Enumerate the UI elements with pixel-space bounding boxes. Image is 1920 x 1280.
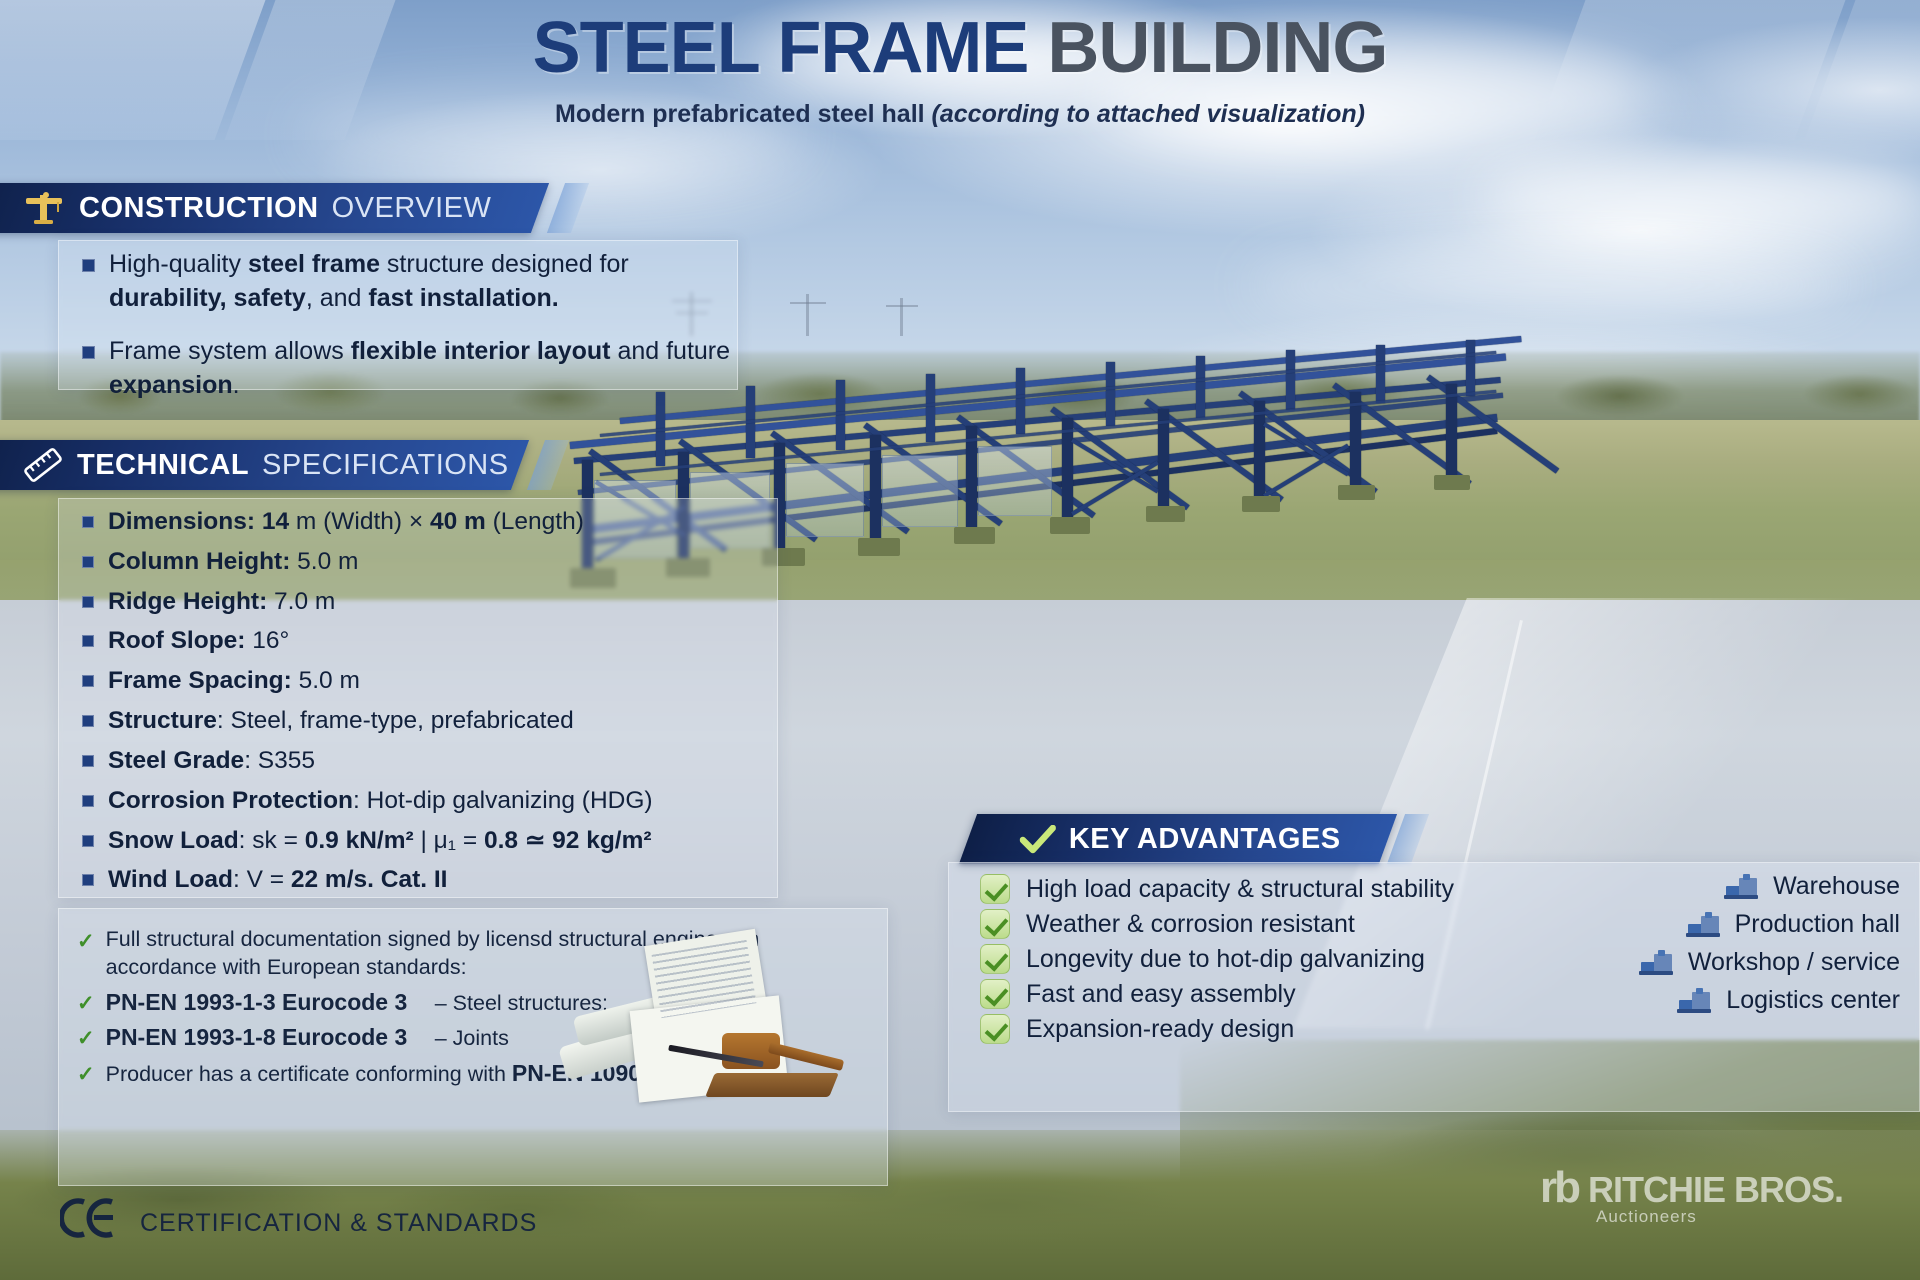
certification-text: PN-EN 1993-1-3 Eurocode 3 – Steel struct… [106,987,608,1017]
check-icon: ✓ [77,991,95,1016]
checkmark-icon [1020,824,1056,854]
spec-text: Corrosion Protection: Hot-dip galvanizin… [108,785,653,818]
subtitle-bold: Modern prefabricated steel hall [555,100,932,128]
construction-overview-heading-bold: CONSTRUCTION [79,192,319,225]
bullet-square-icon [82,259,95,272]
technical-specifications-heading-light: SPECIFICATIONS [262,449,509,482]
page-subtitle: Modern prefabricated steel hall (accordi… [0,100,1920,129]
power-pylon [790,302,826,304]
advantage-row: Longevity due to hot-dip galvanizing [980,944,1540,974]
construction-overview-banner: CONSTRUCTION OVERVIEW [0,183,549,233]
advantage-row: Weather & corrosion resistant [980,909,1540,939]
bullet-square-icon [82,516,94,528]
watermark-monogram: rb [1540,1168,1578,1208]
cloud [1480,150,1920,240]
spec-row: Corrosion Protection: Hot-dip galvanizin… [82,785,782,818]
key-advantages-list: High load capacity & structural stabilit… [980,874,1540,1049]
page-title-primary: STEEL FRAME [533,8,1048,88]
check-icon: ✓ [77,1062,95,1087]
bullet-square-icon [82,346,95,359]
spec-row: Ridge Height: 7.0 m [82,586,782,619]
check-box-icon [980,944,1010,974]
certification-text: Producer has a certificate conforming wi… [106,1058,641,1088]
overview-bullet-text: High-quality steel frame structure desig… [109,248,742,315]
check-box-icon [980,874,1010,904]
certification-text: PN-EN 1993-1-8 Eurocode 3 – Joints [106,1022,509,1052]
bullet-square-icon [82,675,94,687]
spec-text: Snow Load: sk = 0.9 kN/m² | μ₁ = 0.8 ≃ 9… [108,825,652,858]
ce-mark-icon [60,1196,118,1250]
warehouse-icon [1724,874,1760,900]
bullet-square-icon [82,835,94,847]
overview-bullet-text: Frame system allows flexible interior la… [109,335,742,402]
overview-bullet: Frame system allows flexible interior la… [82,335,742,402]
technical-specifications-list: Dimensions: 14 m (Width) × 40 m (Length)… [82,506,782,904]
workshop-icon [1639,950,1675,976]
advantage-row: Expansion-ready design [980,1014,1540,1044]
spec-row: Dimensions: 14 m (Width) × 40 m (Length) [82,506,782,539]
spec-row: Steel Grade: S355 [82,745,782,778]
advantage-row: Fast and easy assembly [980,979,1540,1009]
bullet-square-icon [82,635,94,647]
spec-text: Column Height: 5.0 m [108,546,358,579]
cloud [1250,250,1850,320]
spec-text: Structure: Steel, frame-type, prefabrica… [108,705,574,738]
page-title: STEEL FRAME BUILDING [0,12,1920,84]
power-pylon [886,305,918,307]
bullet-square-icon [82,715,94,727]
advantage-row: High load capacity & structural stabilit… [980,874,1540,904]
check-icon: ✓ [77,929,95,954]
bullet-square-icon [82,755,94,767]
use-case-row: Workshop / service [1480,948,1900,977]
truck-icon [1677,988,1713,1014]
advantage-text: Weather & corrosion resistant [1026,910,1355,939]
spec-text: Wind Load: V = 22 m/s. Cat. II [108,864,447,897]
advantage-text: High load capacity & structural stabilit… [1026,875,1454,904]
use-case-row: Production hall [1480,910,1900,939]
bullet-square-icon [82,795,94,807]
use-case-label: Logistics center [1726,986,1900,1015]
bullet-square-icon [82,596,94,608]
documents-illustration [660,955,960,1130]
check-box-icon [980,1014,1010,1044]
overview-bullet: High-quality steel frame structure desig… [82,248,742,315]
construction-overview-list: High-quality steel frame structure desig… [82,248,742,422]
ritchie-bros-watermark: rb RITCHIE BROS. Auctioneers [1540,1168,1843,1227]
spec-row: Structure: Steel, frame-type, prefabrica… [82,705,782,738]
construction-overview-heading-light: OVERVIEW [332,192,492,225]
spec-text: Frame Spacing: 5.0 m [108,665,360,698]
page-title-secondary: BUILDING [1047,8,1387,88]
spec-text: Roof Slope: 16° [108,625,289,658]
bullet-square-icon [82,556,94,568]
spec-row: Snow Load: sk = 0.9 kN/m² | μ₁ = 0.8 ≃ 9… [82,825,782,858]
ce-certification-line: CERTIFICATION & STANDARDS [60,1196,537,1250]
use-cases-list: WarehouseProduction hallWorkshop / servi… [1480,872,1900,1024]
spec-text: Steel Grade: S355 [108,745,315,778]
technical-specifications-heading-bold: TECHNICAL [77,449,249,482]
spec-row: Frame Spacing: 5.0 m [82,665,782,698]
key-advantages-heading: KEY ADVANTAGES [1069,823,1341,856]
page-header: STEEL FRAME BUILDING Modern prefabricate… [0,0,1920,140]
factory-icon [1686,912,1722,938]
use-case-row: Warehouse [1480,872,1900,901]
ce-certification-label: CERTIFICATION & STANDARDS [140,1209,537,1238]
technical-specifications-banner: TECHNICAL SPECIFICATIONS [0,440,529,490]
check-box-icon [980,909,1010,939]
advantage-text: Fast and easy assembly [1026,980,1296,1009]
spec-row: Wind Load: V = 22 m/s. Cat. II [82,864,782,897]
spec-text: Ridge Height: 7.0 m [108,586,335,619]
watermark-name: RITCHIE BROS. [1588,1169,1843,1211]
check-icon: ✓ [77,1026,95,1051]
advantage-text: Expansion-ready design [1026,1015,1294,1044]
spec-text: Dimensions: 14 m (Width) × 40 m (Length) [108,506,584,539]
use-case-label: Workshop / service [1688,948,1900,977]
spec-row: Column Height: 5.0 m [82,546,782,579]
use-case-label: Production hall [1735,910,1900,939]
gavel-block [705,1073,839,1097]
ruler-icon [22,448,64,482]
check-box-icon [980,979,1010,1009]
use-case-row: Logistics center [1480,986,1900,1015]
use-case-label: Warehouse [1773,872,1900,901]
subtitle-italic: (according to attached visualization) [932,100,1365,128]
advantage-text: Longevity due to hot-dip galvanizing [1026,945,1425,974]
spec-row: Roof Slope: 16° [82,625,782,658]
bullet-square-icon [82,874,94,886]
key-advantages-banner: KEY ADVANTAGES [959,814,1397,864]
crane-icon [22,191,66,225]
